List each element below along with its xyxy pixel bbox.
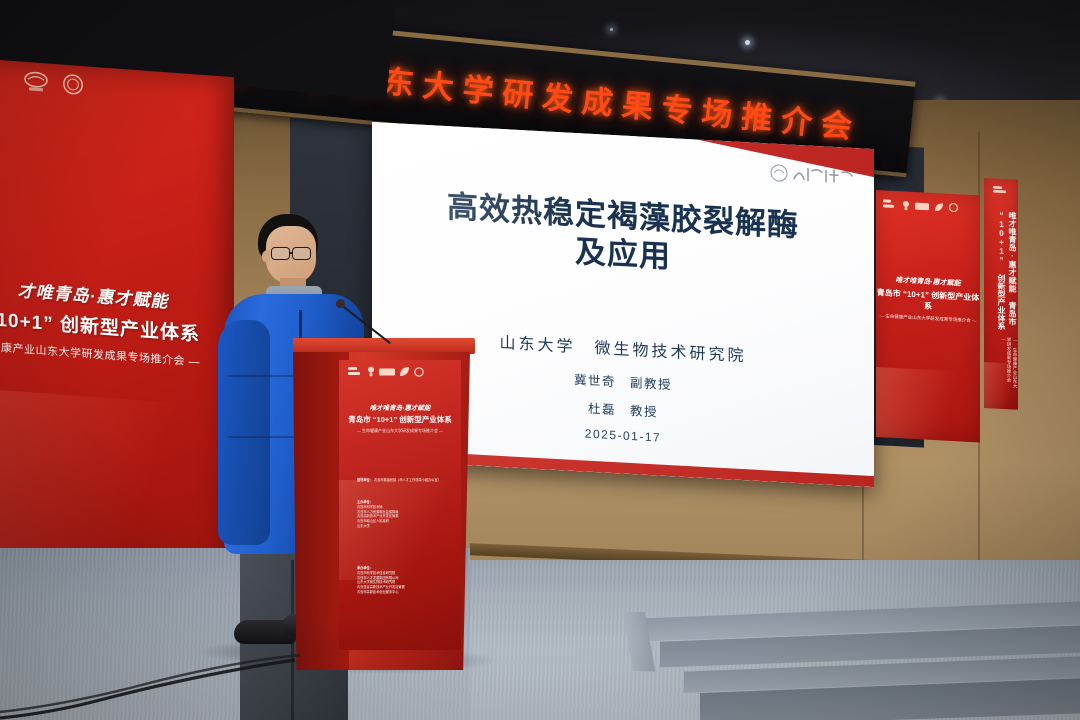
- round-logo: [414, 367, 424, 377]
- leaf-logo: [399, 366, 410, 377]
- ceiling-spotlight: [745, 40, 750, 45]
- banner-sheen: [984, 362, 1018, 410]
- qingdao-talent-logo: [0, 68, 12, 88]
- leaf-logo: [934, 202, 944, 213]
- left-banner-text: 才唯青岛·惠才赋能 “10+1” 创新型产业体系 — 康产业山东大学研发成果专场…: [0, 272, 228, 372]
- right-wide-line2: 青岛市 “10+1” 创新型产业体系: [876, 287, 980, 314]
- right-narrow-banner: 唯才唯青岛·惠才赋能 青岛市 “10+1” 创新型产业体系 — 生命健康产业山东…: [984, 178, 1018, 410]
- left-banner-logo-row: [0, 66, 84, 96]
- banner-sheen: [876, 367, 980, 442]
- podium-front-poster: 唯才唯青岛·惠才赋能 青岛市 “10+1” 创新型产业体系 — 生命健康产业山东…: [339, 360, 461, 650]
- right-narrow-main: 唯才唯青岛·惠才赋能 青岛市 “10+1” 创新型产业体系: [984, 210, 1018, 336]
- right-wide-banner-text: 唯才唯青岛·惠才赋能 青岛市 “10+1” 创新型产业体系 — 生命健康产业山东…: [876, 274, 980, 324]
- glasses-bridge: [290, 252, 293, 254]
- right-wide-banner: 唯才唯青岛·惠才赋能 青岛市 “10+1” 创新型产业体系 — 生命健康产业山东…: [876, 190, 980, 442]
- badge-logo: [379, 367, 395, 377]
- podium: 唯才唯青岛·惠才赋能 青岛市 “10+1” 创新型产业体系 — 生命健康产业山东…: [293, 338, 475, 670]
- qingdao-talent-logo: [883, 198, 897, 210]
- slide-title: 高效热稳定褐藻胶裂解酶 及应用: [372, 184, 874, 287]
- badge-logo: [915, 201, 929, 212]
- shandong-university-logo: [768, 159, 860, 190]
- podium-poster-title: 唯才唯青岛·惠才赋能 青岛市 “10+1” 创新型产业体系 — 生命健康产业山东…: [339, 402, 461, 434]
- speaker-jacket-sleeve: [218, 320, 270, 545]
- round-seal-logo: [62, 73, 84, 97]
- round-logo: [949, 203, 958, 212]
- podium-logo-row: [348, 366, 424, 377]
- speaker-ear: [262, 250, 270, 263]
- poster-sheen: [339, 480, 461, 580]
- podium-line2: 青岛市 “10+1” 创新型产业体系: [339, 414, 461, 425]
- ceiling-spotlight: [610, 28, 613, 31]
- right-wide-line3: — 生命健康产业山东大学研发成果专场推介会 —: [876, 313, 980, 324]
- seal-logo: [902, 200, 910, 210]
- right-banner-logo-row: [883, 198, 958, 213]
- conference-photo-scene: 生命健康产业山东大学研发成果专场推介会 才唯青岛·惠才赋能 “10+1” 创新型…: [0, 0, 1080, 720]
- qingdao-talent-logo: [348, 366, 363, 377]
- microphone-head: [336, 299, 345, 308]
- podium-line1: 唯才唯青岛·惠才赋能: [339, 402, 461, 412]
- credit-entry: 青岛市高新技术创业服务中心: [357, 590, 405, 595]
- glasses-right-lens: [292, 247, 311, 260]
- glasses-left-lens: [271, 247, 290, 260]
- seal-logo: [367, 366, 375, 377]
- qingdao-talent-logo: [993, 185, 1009, 194]
- podium-line3: — 生命健康产业山东大学研发成果专场推介会 —: [339, 428, 461, 434]
- partner-seal-logo: [24, 70, 50, 94]
